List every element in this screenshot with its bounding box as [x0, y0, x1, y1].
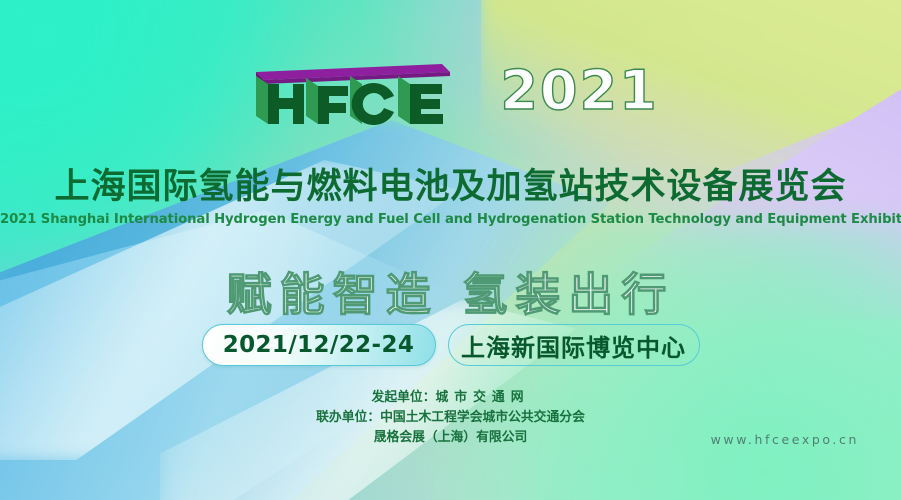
event-poster: 2021 上海国际氢能与燃料电池及加氢站技术设备展览会 2021 Shangha…: [0, 0, 901, 500]
page-title-chinese: 上海国际氢能与燃料电池及加氢站技术设备展览会: [0, 158, 901, 209]
date-pill: 2021/12/22-24: [202, 324, 436, 366]
organizer-value-initiator: 城市交通网: [436, 390, 530, 405]
poster-content: 2021 上海国际氢能与燃料电池及加氢站技术设备展览会 2021 Shangha…: [0, 0, 901, 500]
organizer-line-initiator: 发起单位：城市交通网: [0, 388, 901, 408]
organizer-label-initiator: 发起单位：: [372, 390, 436, 405]
logo-year: 2021: [500, 64, 658, 118]
hfce-3d-logo-icon: [242, 58, 456, 130]
website-url: www.hfceexpo.cn: [711, 432, 859, 447]
slogan: 赋能智造 氢装出行: [0, 258, 901, 323]
venue-pill: 上海新国际博览中心: [448, 324, 700, 366]
organizer-value-company: 晟格会展（上海）有限公司: [374, 430, 528, 445]
page-title-english: 2021 Shanghai International Hydrogen Ene…: [0, 212, 901, 227]
organizer-label-coorganizer: 联办单位：: [316, 410, 380, 425]
organizer-value-coorganizer: 中国土木工程学会城市公共交通分会: [380, 410, 585, 425]
organizer-line-coorganizer: 联办单位：中国土木工程学会城市公共交通分会: [0, 408, 901, 428]
info-pill-row: 2021/12/22-24 上海新国际博览中心: [0, 324, 901, 366]
logo-row: 2021: [0, 58, 901, 130]
